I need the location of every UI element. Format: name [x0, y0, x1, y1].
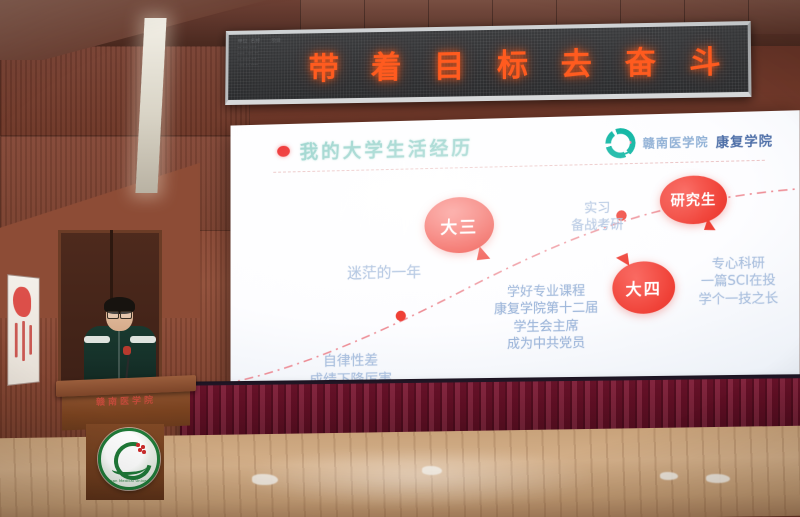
slide-brand-lockup: 赣南医学院 康复学院 [605, 124, 773, 159]
note-achievements: 学好专业课程 康复学院第十二届 学生会主席 成为中共党员 [466, 282, 626, 354]
bullet-dot-icon [277, 146, 290, 157]
slide-title-text: 我的大学生活经历 [300, 133, 474, 164]
timeline-node-1 [396, 311, 406, 322]
gannan-rehab-logo-icon [605, 128, 635, 159]
floor-debris [422, 466, 442, 475]
left-wall-poster [7, 274, 39, 386]
glasses-icon [107, 311, 132, 317]
seal-ring-text: Gannan Medical University [101, 479, 157, 483]
sleeve-stripe-left [84, 336, 110, 343]
slide-title: 我的大学生活经历 [277, 133, 473, 165]
bubble-tail [616, 253, 630, 268]
floor-debris [660, 472, 678, 480]
projection-screen: 我的大学生活经历 赣南医学院 康复学院 大三 [231, 110, 800, 390]
led-char-6: 斗 [689, 36, 722, 82]
slide-surface: 我的大学生活经历 赣南医学院 康复学院 大三 [231, 110, 800, 390]
led-char-3: 标 [497, 40, 529, 86]
floor-debris [706, 474, 730, 483]
bubble-junior-year: 大三 [425, 196, 495, 253]
note-internship: 实习 备战考研 [542, 199, 653, 236]
poster-graphic [13, 286, 31, 317]
led-char-5: 奋 [624, 37, 657, 83]
note-confusing-year: 迷茫的一年 [320, 261, 448, 283]
floor-reflection [250, 452, 670, 514]
bubble-tail [477, 246, 493, 262]
floor-debris [252, 474, 278, 485]
note-research: 专心科研 一篇SCI在投 学个一技之长 [679, 254, 798, 309]
bubble-graduate: 研究生 [660, 175, 727, 225]
microphone-head [123, 346, 131, 355]
led-banner-text: 带 着 目 标 去 奋 斗 [293, 36, 738, 89]
led-char-1: 着 [371, 42, 403, 87]
gannan-medical-university-seal-icon: Gannan Medical University [98, 428, 160, 490]
bubble-senior-label: 大四 [625, 275, 661, 300]
brand-institution: 赣南医学院 [643, 132, 709, 151]
led-char-2: 目 [434, 41, 466, 86]
bubble-junior-label: 大三 [440, 212, 478, 238]
bubble-graduate-label: 研究生 [671, 189, 717, 210]
led-marquee: 单位 名称 项目 -- --- ---- ---- --- -- -- ----… [225, 21, 751, 105]
led-char-4: 去 [561, 39, 593, 85]
brand-college: 康复学院 [716, 130, 773, 151]
auditorium-scene: 单位 名称 项目 -- --- ---- ---- --- -- -- ----… [0, 0, 800, 517]
led-char-0: 带 [308, 43, 340, 88]
sleeve-stripe-right [130, 336, 156, 343]
bubble-tail [704, 218, 718, 233]
